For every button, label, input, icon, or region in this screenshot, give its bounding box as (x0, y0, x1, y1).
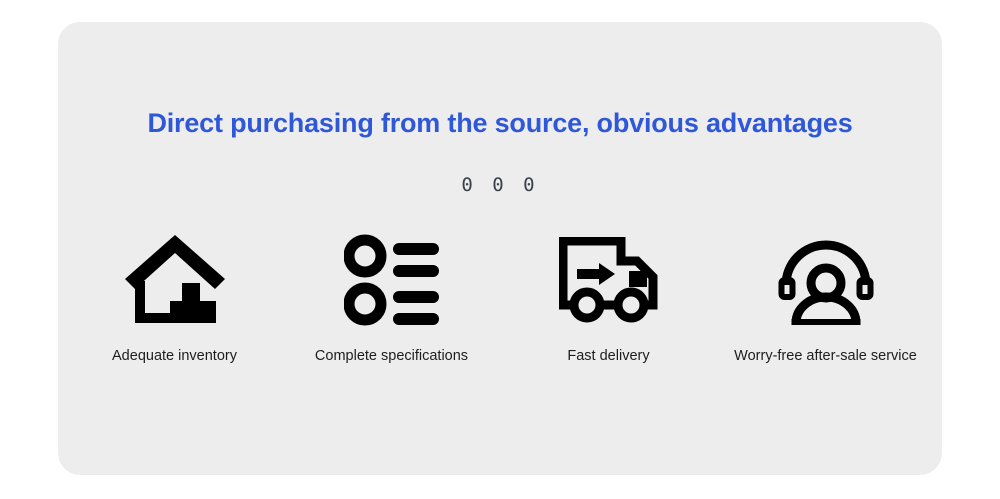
warehouse-inventory-icon (123, 232, 227, 328)
feature-item-complete-specifications: Complete specifications (284, 232, 499, 364)
headset-support-agent-icon (778, 232, 874, 328)
feature-item-fast-delivery: Fast delivery (501, 232, 716, 364)
promo-banner-page: Direct purchasing from the source, obvio… (0, 0, 1000, 499)
delivery-truck-icon (559, 232, 659, 328)
specification-list-icon (344, 232, 440, 328)
page-title: Direct purchasing from the source, obvio… (58, 108, 942, 139)
divider-dots-ornament: 0 0 0 (58, 174, 942, 196)
promo-card: Direct purchasing from the source, obvio… (58, 22, 942, 475)
feature-label: Worry-free after-sale service (734, 348, 917, 364)
feature-item-adequate-inventory: Adequate inventory (67, 232, 282, 364)
features-row: Adequate inventory (66, 232, 934, 364)
feature-label: Fast delivery (567, 348, 649, 364)
feature-label: Complete specifications (315, 348, 468, 364)
feature-item-after-sale-service: Worry-free after-sale service (718, 232, 933, 364)
feature-label: Adequate inventory (112, 348, 237, 364)
